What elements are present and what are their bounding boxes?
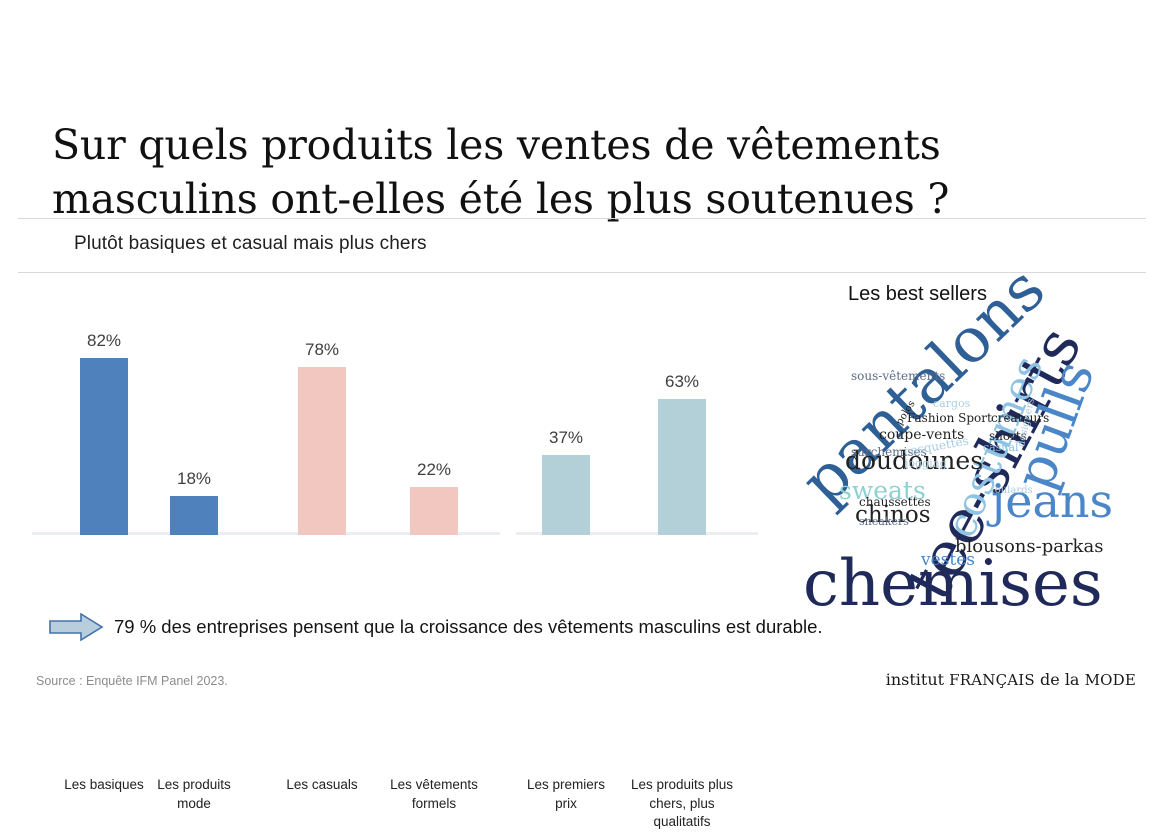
bar-group-prix: 37%Les premiers prix63%Les produits plus… (18, 300, 788, 535)
divider-bottom (18, 272, 1146, 273)
logo-word-2: FRANÇAIS (949, 671, 1035, 689)
word-cloud-term: casual (983, 442, 1019, 453)
bar-category-label: Les produits mode (135, 776, 253, 813)
slide-canvas: Sur quels produits les ventes de vêtemen… (0, 0, 1164, 723)
bar-category-label: Les vêtements formels (375, 776, 493, 813)
callout: 79 % des entreprises pensent que la croi… (48, 612, 823, 642)
word-cloud-term: sous-vêtements (851, 370, 945, 382)
word-cloud-term: cargos (933, 398, 970, 409)
divider-top (18, 218, 1146, 219)
callout-text: 79 % des entreprises pensent que la croi… (114, 616, 823, 638)
bar-chart: 82%Les basiques18%Les produits mode78%Le… (18, 283, 788, 603)
bar-value-label: 37% (549, 428, 583, 448)
bar-category-label: Les produits plus chers, plus qualitatif… (623, 776, 741, 832)
word-cloud: chemisespantalonstee-shirtspullsjeanscos… (795, 300, 1145, 605)
word-cloud-term: jogging (905, 458, 947, 469)
subtitle: Plutôt basiques et casual mais plus cher… (74, 233, 427, 255)
logo-word-3: de la (1040, 670, 1079, 689)
bar-category-label: Les casuals (263, 776, 381, 795)
word-cloud-term: sneakers (859, 516, 909, 527)
word-cloud-term: blousons-parkas (955, 538, 1103, 556)
brand-logo: institut FRANÇAIS de la MODE (886, 670, 1136, 689)
word-cloud-term: foulards (991, 486, 1033, 496)
bar-category-label: Les premiers prix (507, 776, 625, 813)
word-cloud-term: chaussettes (859, 496, 931, 508)
bar-fill (542, 455, 590, 535)
bar-value-label: 63% (665, 372, 699, 392)
word-cloud-term: vestes (921, 552, 975, 569)
right-arrow-icon (48, 612, 104, 642)
word-cloud-term: Fashion Sport (907, 412, 992, 424)
source-note: Source : Enquête IFM Panel 2023. (36, 674, 228, 688)
page-title: Sur quels produits les ventes de vêtemen… (52, 119, 1142, 226)
logo-word-4: MODE (1085, 671, 1136, 689)
logo-word-1: institut (886, 670, 944, 689)
bar-fill (658, 399, 706, 535)
